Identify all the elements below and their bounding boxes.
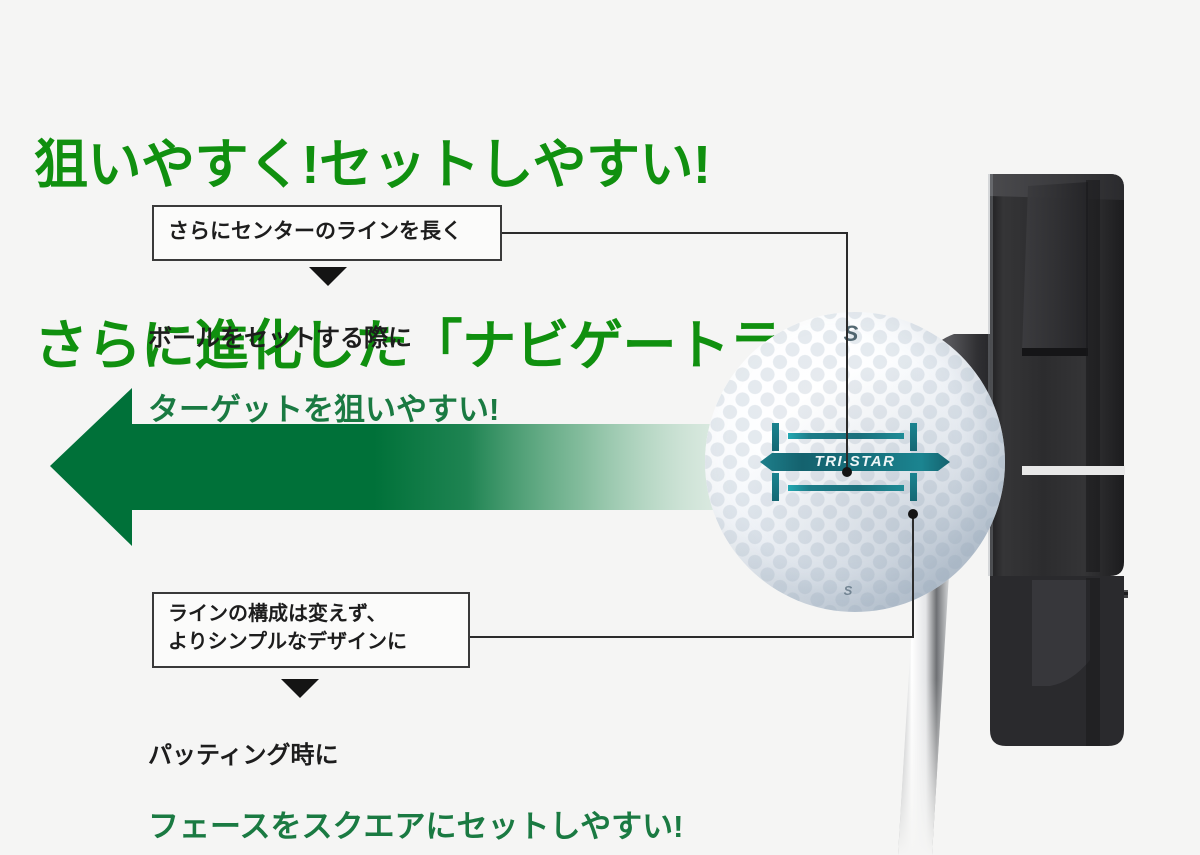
benefit-top-big: ターゲットを狙いやすい! — [148, 390, 499, 430]
triangle-down-icon-top — [309, 267, 347, 286]
benefit-bottom-big: フェースをスクエアにセットしやすい! — [148, 807, 683, 847]
navline-tick-bottom-left — [772, 473, 779, 501]
leader-dot-top — [842, 467, 852, 477]
benefit-bottom-small: パッティング時に — [148, 741, 683, 771]
leader-line-top-horizontal — [500, 232, 848, 234]
navline-tick-bottom-right — [910, 473, 917, 501]
navline-tick-top-right — [910, 423, 917, 451]
leader-line-top-vertical — [846, 232, 848, 472]
leader-line-bottom-vertical — [912, 514, 914, 638]
leader-dot-bottom — [908, 509, 918, 519]
infographic-canvas: 狙いやすく!セットしやすい! さらに進化した「ナビゲートライン」 — [0, 0, 1200, 855]
navline-lower — [788, 485, 904, 491]
triangle-down-icon-bottom — [281, 679, 319, 698]
ball-bottom-mark: S — [831, 584, 865, 598]
navline-tick-top-left — [772, 423, 779, 451]
putter-alignment-line — [1022, 466, 1125, 475]
callout-top-line-1: さらにセンターのラインを長く — [168, 218, 488, 246]
benefit-text-top: ボールをセットする際に ターゲットを狙いやすい! — [148, 288, 499, 466]
benefit-text-bottom: パッティング時に フェースをスクエアにセットしやすい! — [148, 705, 683, 855]
callout-box-center-line: さらにセンターのラインを長く — [152, 205, 502, 261]
golf-ball: S S — [705, 312, 1005, 612]
callout-box-simple-design: ラインの構成は変えず、 よりシンプルなデザインに — [152, 592, 470, 668]
navigate-line-graphic: TRI-STAR — [760, 407, 950, 517]
ball-top-logo: S — [823, 322, 879, 346]
putter-cavity — [1022, 182, 1088, 352]
callout-bottom-line-1: ラインの構成は変えず、 — [168, 601, 456, 629]
ball-brand-text: TRI-STAR — [815, 453, 896, 470]
leader-line-bottom-horizontal — [468, 636, 914, 638]
callout-bottom-line-2: よりシンプルなデザインに — [168, 629, 456, 657]
benefit-top-small: ボールをセットする際に — [148, 324, 499, 354]
